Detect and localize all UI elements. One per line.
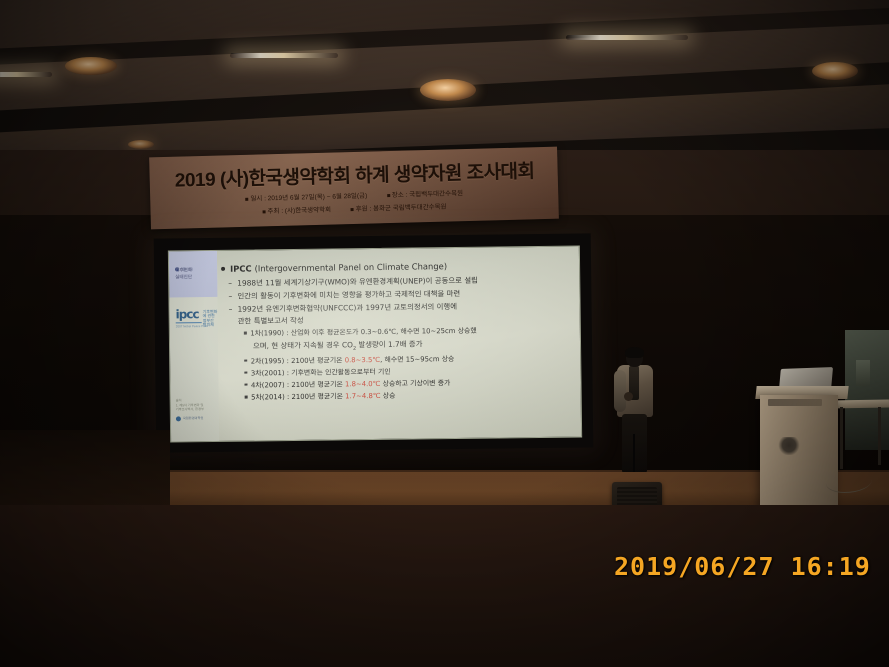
banner-bullet-icon xyxy=(262,210,265,213)
banner-bullet-icon xyxy=(387,194,390,197)
presenter-hair xyxy=(625,347,644,358)
report-text: : 기후변화는 인간활동으로부터 기인 xyxy=(284,367,390,376)
report-label: 2차(1995) xyxy=(251,357,285,365)
report-label: 4차(2007) xyxy=(251,381,285,389)
projection-screen-frame: 기후변화 실태진단 ipcc 기후변화에 관한 정부간 협의체 2007 Nob… xyxy=(154,233,594,452)
footnote-line3: 기후조사백서, 환경부 xyxy=(176,407,204,412)
projection-screen: 기후변화 실태진단 ipcc 기후변화에 관한 정부간 협의체 2007 Nob… xyxy=(168,245,582,442)
slide-bullet-text: 인간의 활동이 기후변화에 미치는 영향을 평가하고 국제적인 대책을 마련 xyxy=(237,289,460,301)
report-cont-pre: 으며, 현 상태가 지속될 경우 CO xyxy=(253,340,353,350)
slide-heading: IPCC (Intergovernmental Panel on Climate… xyxy=(221,261,573,274)
report-text: : 2100년 평균기온 xyxy=(285,380,345,389)
event-banner: 2019 (사)한국생약학회 하계 생약자원 조사대회 일시 : 2019년 6… xyxy=(149,147,559,230)
dash-icon: – xyxy=(228,293,237,301)
report-label: 5차(2014) xyxy=(251,393,285,401)
report-cont-post: 발생량이 1.7배 증가 xyxy=(356,339,423,349)
slide-heading-expansion: (Intergovernmental Panel on Climate Chan… xyxy=(254,261,447,273)
dash-icon: – xyxy=(229,305,238,313)
square-bullet-icon xyxy=(245,396,248,399)
presenter xyxy=(612,348,658,476)
slide-bullet: –1988년 11월 세계기상기구(WMO)와 유엔환경계획(UNEP)이 공동… xyxy=(221,276,573,288)
report-item: 4차(2007) : 2100년 평균기온 1.8~4.0℃ 상승하고 기상이변… xyxy=(222,378,574,389)
ceiling-strip-light xyxy=(230,53,338,58)
report-text-post: 상승하고 기상이변 증가 xyxy=(380,379,450,388)
monitor-grill xyxy=(617,487,657,507)
ceiling-downlight xyxy=(812,62,858,80)
podium-nameplate xyxy=(768,399,822,406)
slide-content: IPCC (Intergovernmental Panel on Climate… xyxy=(221,261,575,407)
footer-badge-label: 국립환경과학원 xyxy=(183,416,204,420)
slide-bullet: –인간의 활동이 기후변화에 미치는 영향을 평가하고 국제적인 대책을 마련 xyxy=(221,289,573,301)
slide-sidebar-title: 기후변화 실태진단 xyxy=(175,267,192,281)
slide-sidebar: 기후변화 실태진단 ipcc 기후변화에 관한 정부간 협의체 2007 Nob… xyxy=(169,251,219,442)
report-item: 2차(1995) : 2100년 평균기온 0.8~3.5℃, 해수면 15~9… xyxy=(222,354,574,365)
slide-bullet-text: 1988년 11월 세계기상기구(WMO)와 유엔환경계획(UNEP)이 공동으… xyxy=(237,276,478,288)
report-label: 1차(1990) xyxy=(250,329,284,337)
slide-bullet: –1992년 유엔기후변화협약(UNFCCC)과 1997년 교토의정서의 이행… xyxy=(222,301,574,313)
sidebar-title-line2: 실태진단 xyxy=(175,274,192,281)
ceiling-strip-light xyxy=(0,72,52,77)
dash-icon: – xyxy=(228,280,237,288)
bullet-dot-icon xyxy=(221,267,225,271)
slide-footnote: 출처 1. 제5차 기후변화 및 기후조사백서, 환경부 xyxy=(176,398,204,412)
report-text: : 산업화 이후 평균온도가 0.3~0.6℃, 해수면 10~25cm 상승했 xyxy=(284,327,477,337)
square-bullet-icon xyxy=(244,384,247,387)
report-text-post: , 해수면 15~95cm 상승 xyxy=(380,355,454,364)
banner-bullet-icon xyxy=(351,208,354,211)
conference-photo: 2019 (사)한국생약학회 하계 생약자원 조사대회 일시 : 2019년 6… xyxy=(0,0,889,667)
ceiling-downlight xyxy=(420,79,476,101)
camera-timestamp: 2019/06/27 16:19 xyxy=(614,552,871,581)
ceiling-strip-light xyxy=(566,35,688,40)
report-highlight: 1.8~4.0℃ xyxy=(345,380,381,388)
report-highlight: 0.8~3.5℃ xyxy=(345,355,381,363)
report-text: : 2100년 평균기온 xyxy=(285,392,345,401)
ceiling xyxy=(0,0,889,170)
side-table-leg xyxy=(878,407,881,465)
slide-footer-badge: 국립환경과학원 xyxy=(176,415,204,421)
square-bullet-icon xyxy=(244,359,247,362)
report-label: 3차(2001) xyxy=(251,369,285,377)
ipcc-logo-caption: 2007 Nobel Peace Prize xyxy=(176,324,208,328)
square-bullet-icon xyxy=(244,371,247,374)
report-item: 5차(2014) : 2100년 평균기온 1.7~4.8℃ 상승 xyxy=(223,390,575,401)
audience-area xyxy=(0,505,889,667)
presenter-arm xyxy=(614,370,626,412)
slide-bullet-continuation: 관한 특별보고서 작성 xyxy=(222,314,574,326)
side-table-leg xyxy=(840,407,843,469)
ipcc-logo: ipcc xyxy=(176,307,199,321)
slide-bullet-text: 관한 특별보고서 작성 xyxy=(238,316,304,326)
report-text-post: 상승 xyxy=(381,392,396,400)
right-wall-panel xyxy=(845,330,889,450)
square-bullet-icon xyxy=(244,332,247,335)
report-item: 1차(1990) : 산업화 이후 평균온도가 0.3~0.6℃, 해수면 10… xyxy=(222,326,574,337)
report-item: 3차(2001) : 기후변화는 인간활동으로부터 기인 xyxy=(222,366,574,377)
report-highlight: 1.7~4.8℃ xyxy=(345,392,381,400)
ceiling-downlight xyxy=(128,140,154,149)
presenter-hand xyxy=(624,392,633,401)
report-text: : 2100년 평균기온 xyxy=(284,356,344,365)
podium xyxy=(760,395,838,515)
right-wall-fixture xyxy=(856,360,870,386)
presenter-leg-split xyxy=(633,434,635,472)
badge-dot-icon xyxy=(176,416,181,421)
podium-emblem-icon xyxy=(778,437,800,455)
ceiling-downlight xyxy=(65,57,117,75)
slide-heading-text: IPCC xyxy=(230,263,252,273)
report-item-continuation: 으며, 현 상태가 지속될 경우 CO2 발생량이 1.7배 증가 xyxy=(222,338,574,353)
banner-bullet-icon xyxy=(245,198,248,201)
slide-bullet-text: 1992년 유엔기후변화협약(UNFCCC)과 1997년 교토의정서의 이행에 xyxy=(238,302,458,314)
